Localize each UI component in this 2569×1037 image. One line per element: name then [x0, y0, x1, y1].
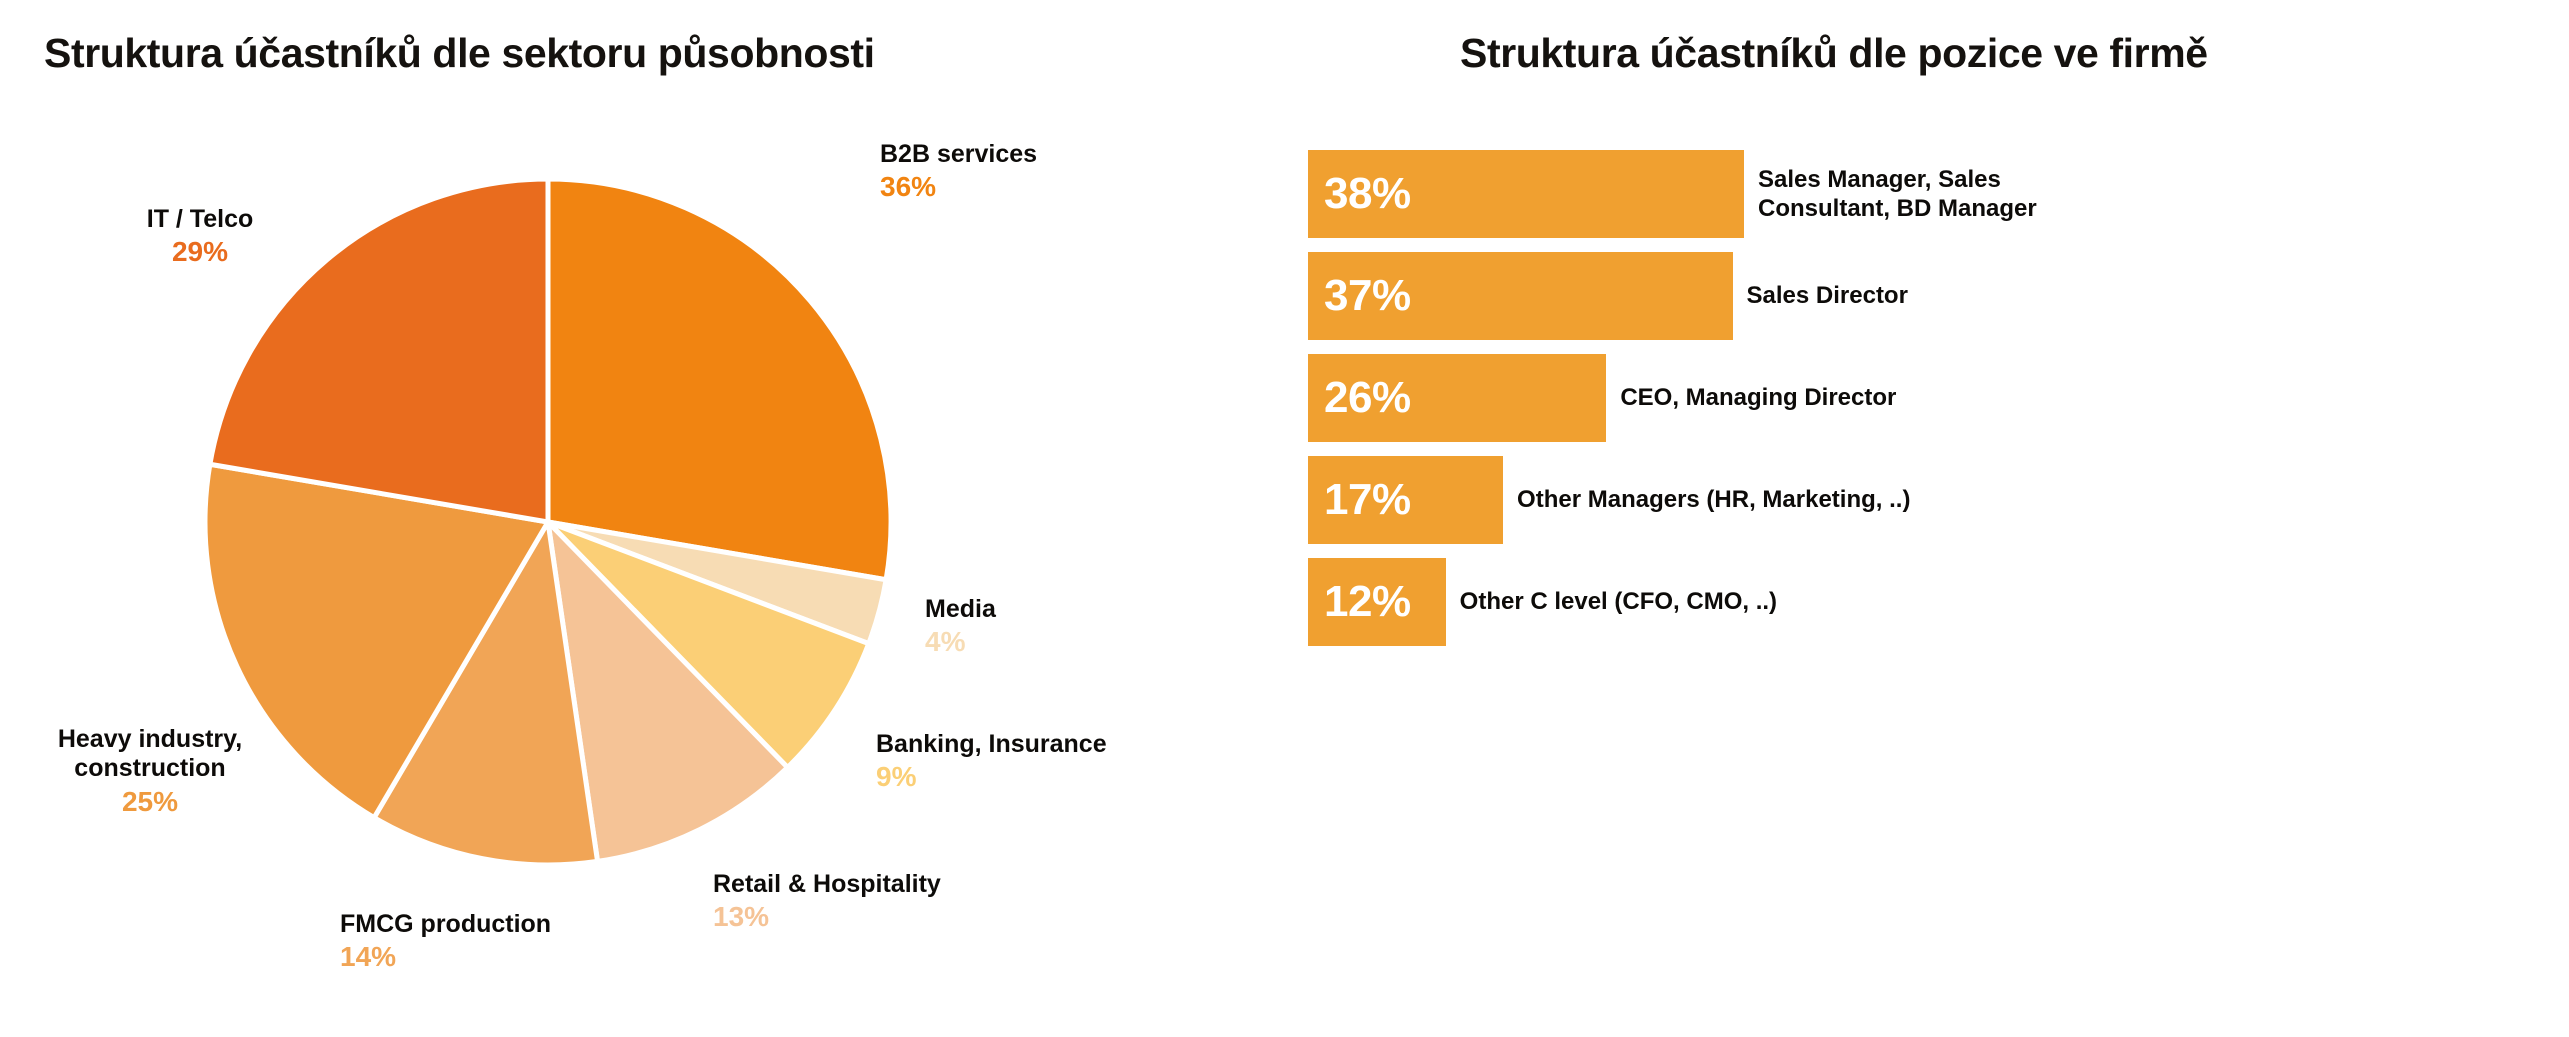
bar-category-label: Sales Manager, Sales Consultant, BD Mana…	[1744, 150, 2037, 238]
bar-category-label: Sales Director	[1733, 252, 1908, 340]
pie-label-banking-insurance: Banking, Insurance 9%	[876, 730, 1107, 794]
pie-label-media: Media 4%	[925, 595, 996, 659]
bar-chart-panel: Struktura účastníků dle pozice ve firmě …	[1300, 0, 2569, 1037]
charts-container: Struktura účastníků dle sektoru působnos…	[0, 0, 2569, 1037]
bar-fill[interactable]: 38%	[1308, 150, 1744, 238]
bar-value-label: 38%	[1308, 169, 1411, 219]
pie-label-fmcg-production: FMCG production 14%	[340, 910, 551, 974]
pie-label-heavy-industry-value: 25%	[20, 786, 280, 819]
bar-value-label: 26%	[1308, 373, 1411, 423]
bar-row[interactable]: 37%Sales Director	[1308, 252, 2569, 340]
pie-chart	[0, 0, 1300, 1037]
bar-fill[interactable]: 37%	[1308, 252, 1733, 340]
pie-label-fmcg-production-text: FMCG production	[340, 910, 551, 939]
bar-category-label: Other Managers (HR, Marketing, ..)	[1503, 456, 1910, 544]
bar-category-label: Other C level (CFO, CMO, ..)	[1446, 558, 1777, 646]
bar-value-label: 37%	[1308, 271, 1411, 321]
bar-value-label: 17%	[1308, 475, 1411, 525]
bar-fill[interactable]: 12%	[1308, 558, 1446, 646]
pie-label-it-telco-value: 29%	[110, 236, 290, 269]
pie-chart-svg	[0, 0, 1300, 1037]
bar-value-label: 12%	[1308, 577, 1411, 627]
bar-chart-title: Struktura účastníků dle pozice ve firmě	[1460, 30, 2208, 77]
pie-slice-group	[205, 179, 891, 865]
pie-label-heavy-industry-line1: Heavy industry,	[20, 725, 280, 754]
bar-fill[interactable]: 26%	[1308, 354, 1606, 442]
pie-chart-panel: Struktura účastníků dle sektoru působnos…	[0, 0, 1300, 1037]
pie-label-banking-insurance-value: 9%	[876, 761, 1107, 794]
pie-label-fmcg-production-value: 14%	[340, 941, 551, 974]
pie-label-b2b-services-value: 36%	[880, 171, 1037, 204]
pie-label-media-value: 4%	[925, 626, 996, 659]
bar-row[interactable]: 17%Other Managers (HR, Marketing, ..)	[1308, 456, 2569, 544]
pie-label-retail-hospitality-value: 13%	[713, 901, 941, 934]
bar-chart: 38%Sales Manager, Sales Consultant, BD M…	[1308, 150, 2569, 1030]
pie-label-it-telco: IT / Telco 29%	[110, 205, 290, 269]
pie-label-media-text: Media	[925, 595, 996, 624]
bar-row[interactable]: 12%Other C level (CFO, CMO, ..)	[1308, 558, 2569, 646]
bar-fill[interactable]: 17%	[1308, 456, 1503, 544]
pie-label-b2b-services: B2B services 36%	[880, 140, 1037, 204]
bar-row[interactable]: 38%Sales Manager, Sales Consultant, BD M…	[1308, 150, 2569, 238]
pie-label-retail-hospitality: Retail & Hospitality 13%	[713, 870, 941, 934]
pie-label-heavy-industry: Heavy industry, construction 25%	[20, 725, 280, 818]
pie-label-heavy-industry-line2: construction	[20, 754, 280, 783]
pie-label-it-telco-text: IT / Telco	[110, 205, 290, 234]
pie-slice[interactable]	[548, 179, 891, 580]
pie-label-b2b-services-text: B2B services	[880, 140, 1037, 169]
pie-label-retail-hospitality-text: Retail & Hospitality	[713, 870, 941, 899]
pie-label-banking-insurance-text: Banking, Insurance	[876, 730, 1107, 759]
bar-category-label: CEO, Managing Director	[1606, 354, 1896, 442]
bar-row[interactable]: 26%CEO, Managing Director	[1308, 354, 2569, 442]
